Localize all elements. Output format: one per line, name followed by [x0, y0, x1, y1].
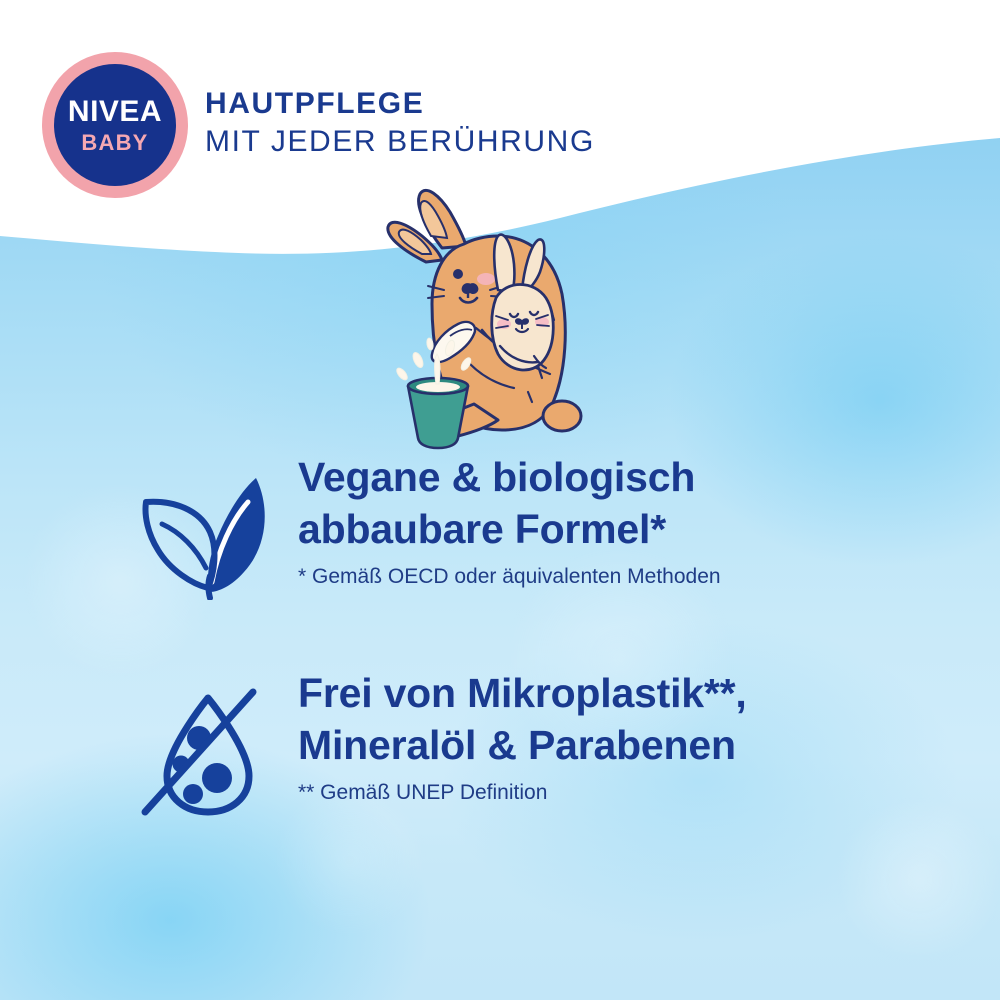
feature-row-microplastic: Frei von Mikroplastik**, Mineralöl & Par… — [118, 668, 747, 822]
logo-sub-text: BABY — [81, 132, 148, 154]
feature-row-vegan: Vegane & biologisch abbaubare Formel* * … — [118, 452, 721, 600]
header-headline: HAUTPFLEGE MIT JEDER BERÜHRUNG — [205, 85, 595, 162]
feature-title: Frei von Mikroplastik**, Mineralöl & Par… — [298, 668, 747, 771]
nivea-baby-infographic: NIVEA BABY HAUTPFLEGE MIT JEDER BERÜHRUN… — [0, 0, 1000, 1000]
water-bucket — [408, 378, 468, 448]
bunny-illustration — [378, 178, 608, 450]
feature-footnote: ** Gemäß UNEP Definition — [298, 780, 747, 805]
feature-text-vegan: Vegane & biologisch abbaubare Formel* * … — [298, 452, 721, 590]
headline-line-1: HAUTPFLEGE — [205, 85, 595, 123]
logo-brand-text: NIVEA — [68, 97, 162, 127]
logo-inner-circle: NIVEA BABY — [54, 64, 176, 186]
no-microplastic-droplet-icon — [118, 668, 298, 822]
feature-footnote: * Gemäß OECD oder äquivalenten Methoden — [298, 564, 721, 589]
headline-line-2: MIT JEDER BERÜHRUNG — [205, 123, 595, 161]
leaf-icon — [118, 452, 298, 600]
mother-eye — [453, 269, 463, 279]
feature-title: Vegane & biologisch abbaubare Formel* — [298, 452, 721, 555]
feature-text-microplastic: Frei von Mikroplastik**, Mineralöl & Par… — [298, 668, 747, 806]
nivea-baby-logo: NIVEA BABY — [42, 52, 188, 198]
